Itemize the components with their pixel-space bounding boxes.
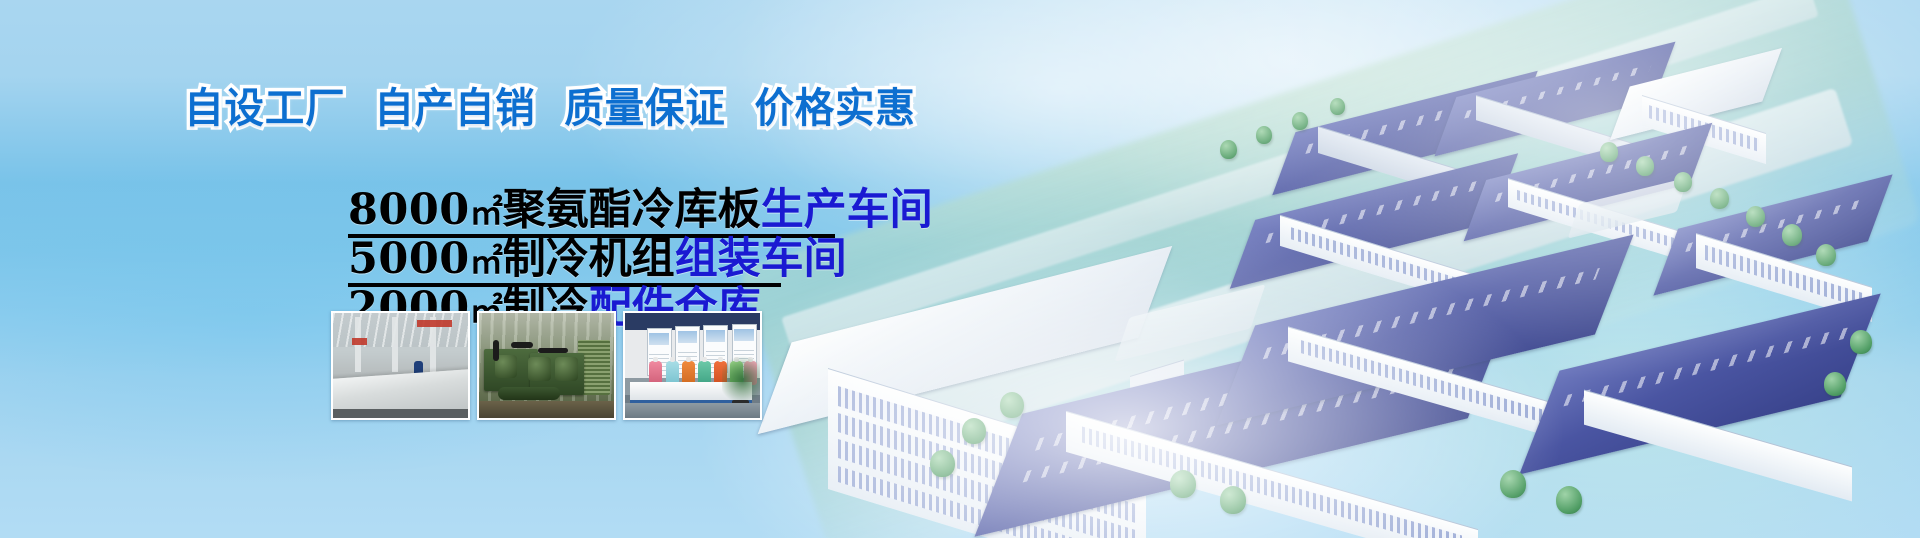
stat-number-2: 5000 — [348, 234, 470, 284]
pipe — [538, 348, 568, 353]
photo-thumbnail-strip — [331, 311, 762, 420]
exhibition-floor — [625, 403, 760, 418]
facility-stat-line-1: 8000㎡聚氨酯冷库板生产车间 — [348, 186, 933, 235]
stat-label-2: 制冷机组 — [503, 234, 675, 284]
headline-phrase-3: 质量保证 — [564, 84, 725, 132]
refrigerant-cylinder-showroom-photo — [623, 311, 762, 420]
compressor-units-photo — [477, 311, 616, 420]
stat-label-1: 聚氨酯冷库板 — [503, 185, 761, 235]
stat-highlight-1: 生产车间 — [761, 185, 933, 235]
workshop-red-banner — [417, 320, 452, 327]
promo-banner: 自设工厂自产自销质量保证价格实惠 8000㎡聚氨酯冷库板生产车间 5000㎡制冷… — [0, 0, 1920, 538]
stat-unit-2: ㎡ — [470, 242, 503, 281]
headline-slogan: 自设工厂自产自销质量保证价格实惠 — [22, 74, 1078, 134]
workshop-floor — [479, 401, 614, 418]
workshop-floor — [333, 409, 468, 418]
headline-phrase-1: 自设工厂 — [184, 84, 345, 132]
workshop-red-banner — [352, 338, 367, 345]
pipe — [511, 342, 533, 347]
compressor-body — [528, 357, 551, 381]
headline-phrase-4: 价格实惠 — [754, 84, 915, 132]
facility-stat-line-2: 5000㎡制冷机组组装车间 — [348, 235, 933, 284]
workshop-column — [392, 317, 398, 372]
headline-phrase-2: 自产自销 — [374, 84, 535, 132]
pipe — [493, 340, 500, 361]
compressor-body — [555, 357, 578, 381]
receiver-tank — [498, 387, 560, 401]
stat-unit-1: ㎡ — [470, 193, 503, 232]
stat-highlight-2: 组装车间 — [675, 234, 847, 284]
stat-number-1: 8000 — [348, 185, 470, 235]
workshop-panel-production-photo — [331, 311, 470, 420]
